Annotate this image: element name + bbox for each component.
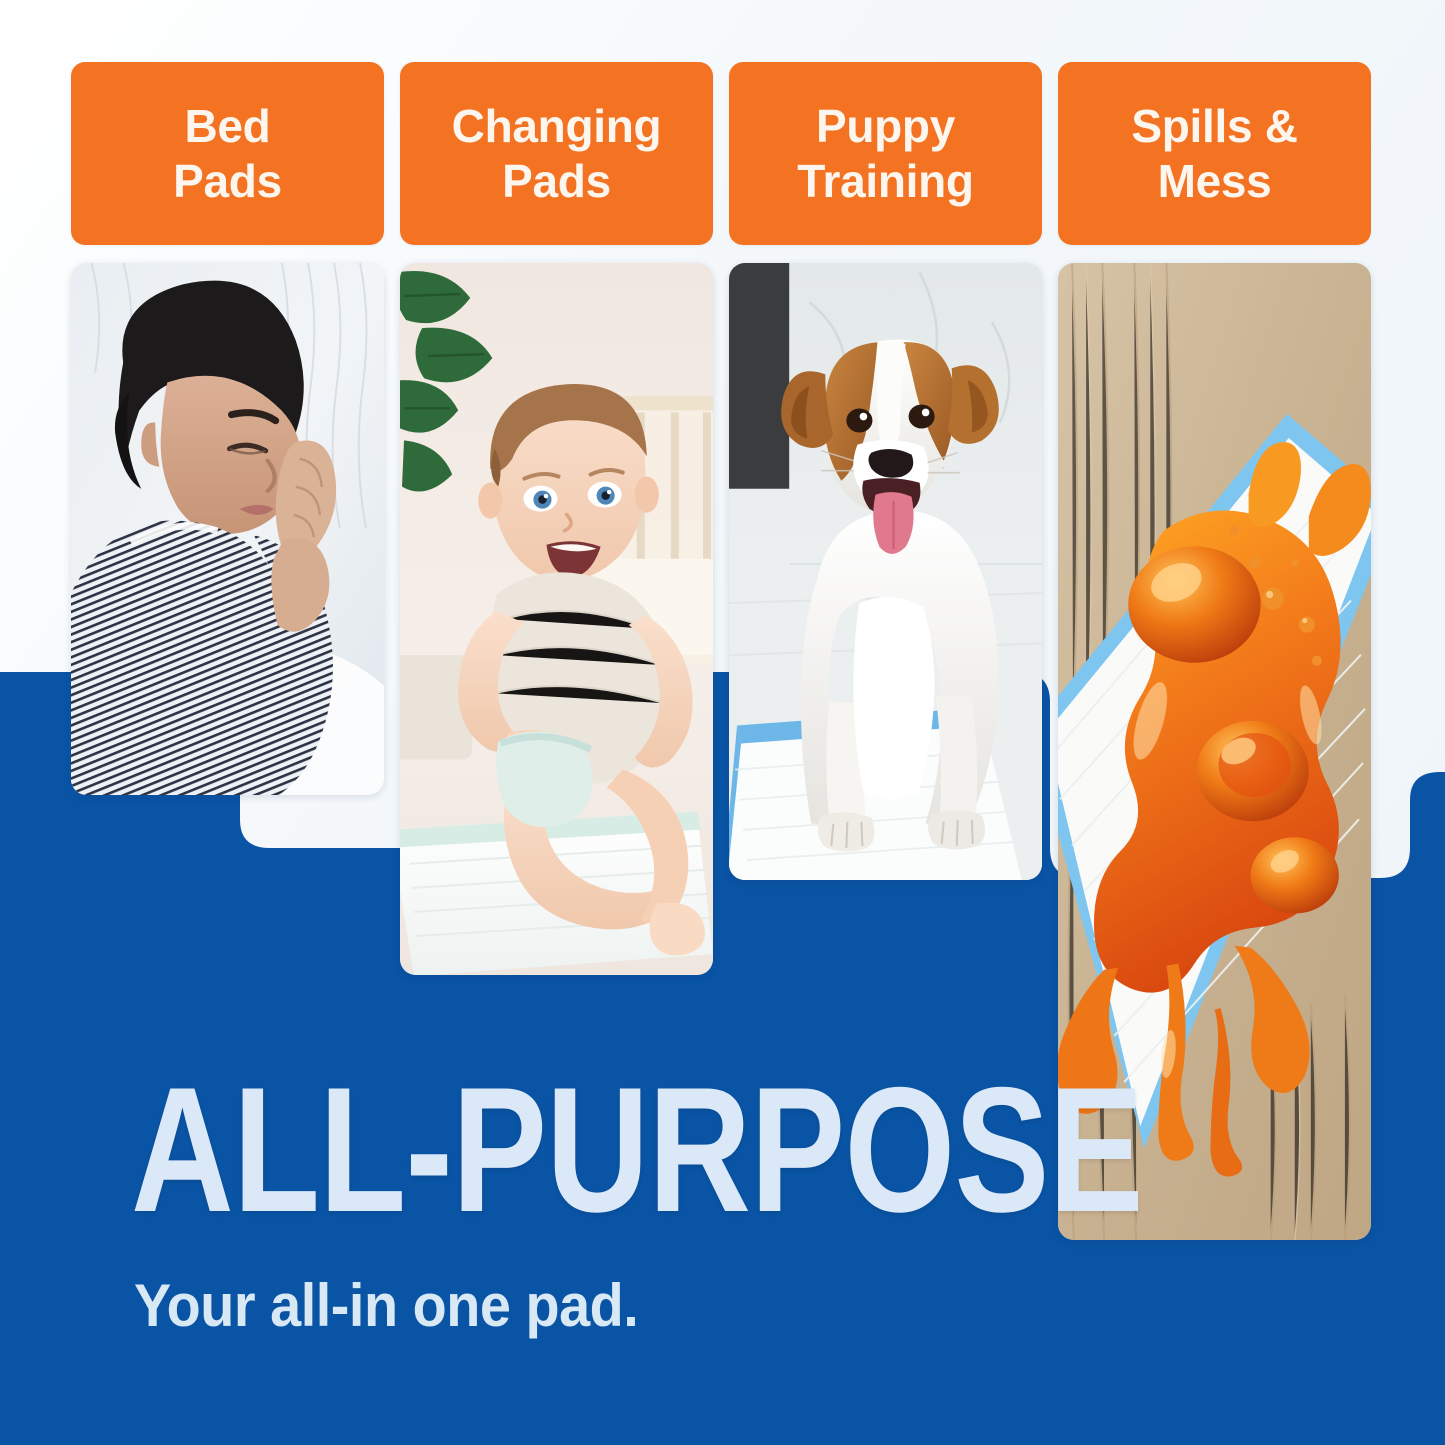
promo-subheadline: Your all-in one pad.	[134, 1273, 638, 1339]
category-chip-bed-pads[interactable]: Bed Pads	[71, 62, 384, 245]
photo-bed-pads-illustration	[71, 263, 384, 795]
category-chip-puppy-training[interactable]: Puppy Training	[729, 62, 1042, 245]
category-chip-label: Puppy Training	[789, 99, 982, 208]
product-feature-poster: Bed Pads Changing Pads Puppy Training Sp…	[0, 0, 1445, 1445]
category-chip-changing-pads[interactable]: Changing Pads	[400, 62, 713, 245]
category-chip-row: Bed Pads Changing Pads Puppy Training Sp…	[71, 62, 1371, 245]
category-chip-spills-mess[interactable]: Spills & Mess	[1058, 62, 1371, 245]
category-chip-label: Bed Pads	[165, 99, 290, 208]
photo-puppy-training	[729, 263, 1042, 880]
photo-puppy-training-illustration	[729, 263, 1042, 880]
photo-bed-pads	[71, 263, 384, 795]
category-chip-label: Spills & Mess	[1123, 99, 1305, 208]
photo-changing-pads-illustration	[400, 263, 713, 975]
promo-headline: ALL-PURPOSE	[131, 1068, 1143, 1232]
category-chip-label: Changing Pads	[444, 99, 670, 208]
photo-changing-pads	[400, 263, 713, 975]
